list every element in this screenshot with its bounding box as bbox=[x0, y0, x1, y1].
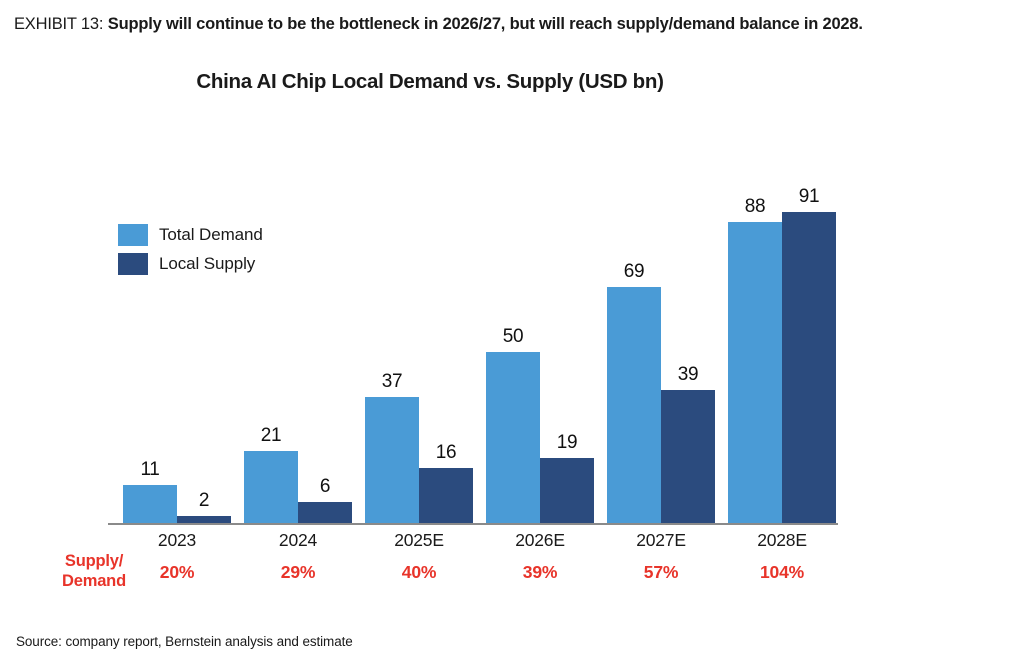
bar-local-supply-2025E bbox=[419, 468, 473, 523]
bar-value-label: 50 bbox=[473, 326, 553, 348]
legend-label: Total Demand bbox=[159, 225, 263, 245]
bar-local-supply-2024 bbox=[298, 502, 352, 523]
bar-value-label: 91 bbox=[769, 186, 849, 208]
bar-local-supply-2028E bbox=[782, 212, 836, 523]
legend-label: Local Supply bbox=[159, 254, 255, 274]
bar-value-label: 2 bbox=[164, 490, 244, 512]
bar-total-demand-2028E bbox=[728, 222, 782, 523]
bar-value-label: 21 bbox=[231, 425, 311, 447]
bar-value-label: 39 bbox=[648, 364, 728, 386]
bar-local-supply-2027E bbox=[661, 390, 715, 523]
bar-value-label: 11 bbox=[110, 459, 190, 481]
source-note: Source: company report, Bernstein analys… bbox=[16, 634, 353, 649]
legend-swatch-icon bbox=[118, 253, 148, 275]
bar-total-demand-2027E bbox=[607, 287, 661, 523]
bar-value-label: 16 bbox=[406, 442, 486, 464]
supply-demand-row-title: Supply/ Demand bbox=[48, 551, 140, 591]
legend-swatch-icon bbox=[118, 224, 148, 246]
legend-item-total-demand: Total Demand bbox=[118, 220, 263, 249]
bar-chart-plot: Total DemandLocal Supply 112216371650196… bbox=[0, 0, 1025, 671]
ratio-title-line-1: Supply/ bbox=[48, 551, 140, 571]
bar-value-label: 19 bbox=[527, 432, 607, 454]
x-axis-line bbox=[108, 523, 838, 525]
bar-local-supply-2026E bbox=[540, 458, 594, 523]
bar-value-label: 37 bbox=[352, 371, 432, 393]
ratio-title-line-2: Demand bbox=[48, 571, 140, 591]
bar-value-label: 6 bbox=[285, 476, 365, 498]
bar-value-label: 69 bbox=[594, 261, 674, 283]
bar-local-supply-2023 bbox=[177, 516, 231, 523]
supply-demand-ratio-2028E: 104% bbox=[711, 562, 853, 583]
x-tick-label-2028E: 2028E bbox=[711, 530, 853, 551]
chart-legend: Total DemandLocal Supply bbox=[118, 220, 263, 278]
legend-item-local-supply: Local Supply bbox=[118, 249, 263, 278]
